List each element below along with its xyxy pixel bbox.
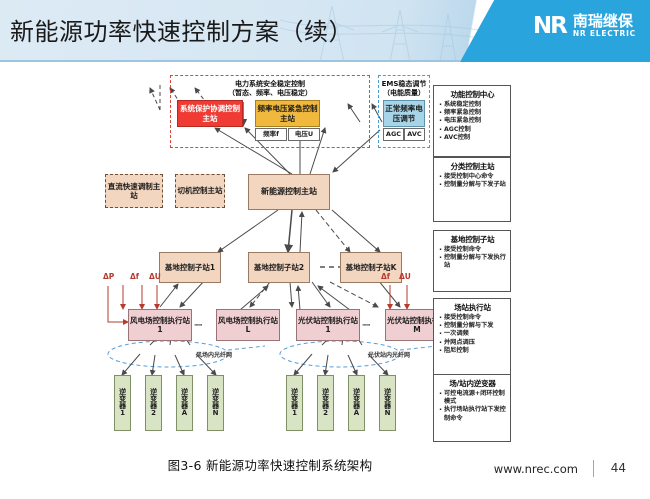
side-panel-station-execution: 场站执行站 接受控制命令 控制量分解与下发 一次调频 并网点调压 阻尼控制 (433, 298, 511, 380)
side-panel-item: 接受控制中心命令 (438, 173, 507, 181)
side-panel-base-control-substation: 基地控制子站 接受控制命令 控制量分解与下发执行站 (433, 230, 511, 292)
side-panel-classified-control-master: 分类控制主站 接受控制中心命令 控制量分解与下发子站 (433, 157, 511, 222)
group-label-stability: 电力系统安全稳定控制（暂态、频率、电压稳定） (171, 80, 369, 98)
node-pv-exec-station-1[interactable]: 光伏站控制执行站1 (296, 309, 360, 341)
inverter-index: 2 (151, 409, 156, 417)
side-panel-item: 控制量分解与下发执行站 (438, 254, 507, 270)
slide-header: 新能源功率快速控制方案（续） NR 南瑞继保 NR ELECTRIC (0, 0, 650, 62)
signal-label-delta-p: ΔP (103, 272, 114, 281)
signal-label-delta-f-left: Δf (130, 272, 139, 281)
side-panel-function-control-center: 功能控制中心 系统稳定控制 频率紧急控制 电压紧急控制 AGC控制 AVC控制 (433, 85, 511, 157)
side-panel-title: 场站执行站 (438, 302, 507, 313)
node-new-energy-master[interactable]: 新能源控制主站 (248, 174, 330, 210)
inverter-label: 逆变器 (352, 388, 360, 409)
node-inverter-p3[interactable]: 逆变器 Ä (348, 375, 365, 431)
node-base-substation-1[interactable]: 基地控制子站1 (159, 252, 221, 283)
side-panel-item: 电压紧急控制 (438, 117, 507, 125)
inverter-index: 1 (292, 409, 297, 417)
side-panel-item: 系统稳定控制 (438, 101, 507, 109)
node-dc-fast-modulation-master[interactable]: 直流快速调制主站 (105, 174, 163, 208)
node-freq-volt-emergency[interactable]: 频率电压紧急控制主站 (255, 100, 320, 127)
signal-label-delta-u-right: ΔU (399, 272, 411, 281)
side-panel-title: 基地控制子站 (438, 234, 507, 245)
logo-mark: NR (533, 15, 566, 38)
ellipsis-wind: ······ (194, 322, 202, 329)
inverter-label: 逆变器 (118, 388, 126, 409)
footer-divider (593, 460, 595, 477)
side-panel-item: 接受控制命令 (438, 246, 507, 254)
page-number: 44 (611, 461, 626, 475)
inverter-label: 逆变器 (290, 388, 298, 409)
signal-label-delta-f-right: Δf (381, 272, 390, 281)
node-trip-unit-master[interactable]: 切机控制主站 (175, 174, 225, 208)
node-agc[interactable]: AGC (383, 128, 404, 141)
node-freq-f[interactable]: 频率f (255, 128, 287, 141)
side-panel-title: 功能控制中心 (438, 89, 507, 100)
label-wind-fiber-network: 风场内光纤网 (196, 350, 232, 359)
side-panel-title: 分类控制主站 (438, 161, 507, 172)
side-panel-item: 可控电流源+闭环控制模式 (438, 390, 507, 406)
node-inverter-p2[interactable]: 逆变器 2 (317, 375, 334, 431)
ellipsis-pv: ······ (362, 322, 370, 329)
logo-nr-electric: NR 南瑞继保 NR ELECTRIC (533, 14, 636, 38)
figure-caption-text: 图3-6 新能源功率快速控制系统架构 (168, 458, 373, 473)
inverter-label: 逆变器 (149, 388, 157, 409)
inverter-index: N (213, 409, 219, 417)
slide: 新能源功率快速控制方案（续） NR 南瑞继保 NR ELECTRIC (0, 0, 650, 499)
node-inverter-wn[interactable]: 逆变器 N (207, 375, 224, 431)
node-inverter-w3[interactable]: 逆变器 Ä (176, 375, 193, 431)
inverter-label: 逆变器 (211, 388, 219, 409)
side-panel-item: 一次调频 (438, 330, 507, 338)
node-avc[interactable]: AVC (404, 128, 425, 141)
side-panel-item: 执行场站执行站下发控制命令 (438, 406, 507, 422)
group-label-ems: EMS稳态调节（电能质量） (379, 80, 429, 98)
side-panel-item: 并网点调压 (438, 339, 507, 347)
node-wind-exec-station-1[interactable]: 风电场控制执行站1 (128, 309, 192, 341)
side-panel-station-inverter: 场/站内逆变器 可控电流源+闭环控制模式 执行场站执行站下发控制命令 (433, 374, 511, 442)
side-panel-item: AGC控制 (438, 126, 507, 134)
node-inverter-w2[interactable]: 逆变器 2 (145, 375, 162, 431)
inverter-index: Ä (182, 409, 187, 417)
label-pv-fiber-network: 光伏站内光纤网 (368, 350, 410, 359)
side-panel-item: 接受控制命令 (438, 314, 507, 322)
side-panel-item: 阻尼控制 (438, 347, 507, 355)
node-inverter-pn[interactable]: 逆变器 N (379, 375, 396, 431)
node-base-substation-2[interactable]: 基地控制子站2 (248, 252, 310, 283)
diagram-canvas: 电力系统安全稳定控制（暂态、频率、电压稳定） EMS稳态调节（电能质量） 系统保… (0, 62, 650, 452)
footer-website[interactable]: www.nrec.com (494, 462, 578, 476)
inverter-index: 2 (323, 409, 328, 417)
inverter-label: 逆变器 (383, 388, 391, 409)
node-volt-u[interactable]: 电压U (288, 128, 320, 141)
side-panel-item: 控制量分解与下发子站 (438, 181, 507, 189)
side-panel-title: 场/站内逆变器 (438, 378, 507, 389)
logo-name-en: NR ELECTRIC (573, 30, 636, 38)
node-base-substation-k[interactable]: 基地控制子站K (340, 252, 402, 283)
node-normal-freq-volt-reg[interactable]: 正常频率电压调节 (383, 100, 425, 127)
inverter-label: 逆变器 (180, 388, 188, 409)
node-wind-exec-station-l[interactable]: 风电场控制执行站L (216, 309, 280, 341)
inverter-index: 1 (120, 409, 125, 417)
node-inverter-p1[interactable]: 逆变器 1 (286, 375, 303, 431)
inverter-index: N (385, 409, 391, 417)
logo-name-cn: 南瑞继保 (573, 14, 636, 30)
side-panel-item: AVC控制 (438, 134, 507, 142)
signal-label-delta-u-left: ΔU (149, 272, 161, 281)
node-inverter-w1[interactable]: 逆变器 1 (114, 375, 131, 431)
inverter-index: Ä (354, 409, 359, 417)
inverter-label: 逆变器 (321, 388, 329, 409)
node-protection-master[interactable]: 系统保护协调控制主站 (177, 100, 243, 127)
page-title: 新能源功率快速控制方案（续） (10, 12, 353, 47)
